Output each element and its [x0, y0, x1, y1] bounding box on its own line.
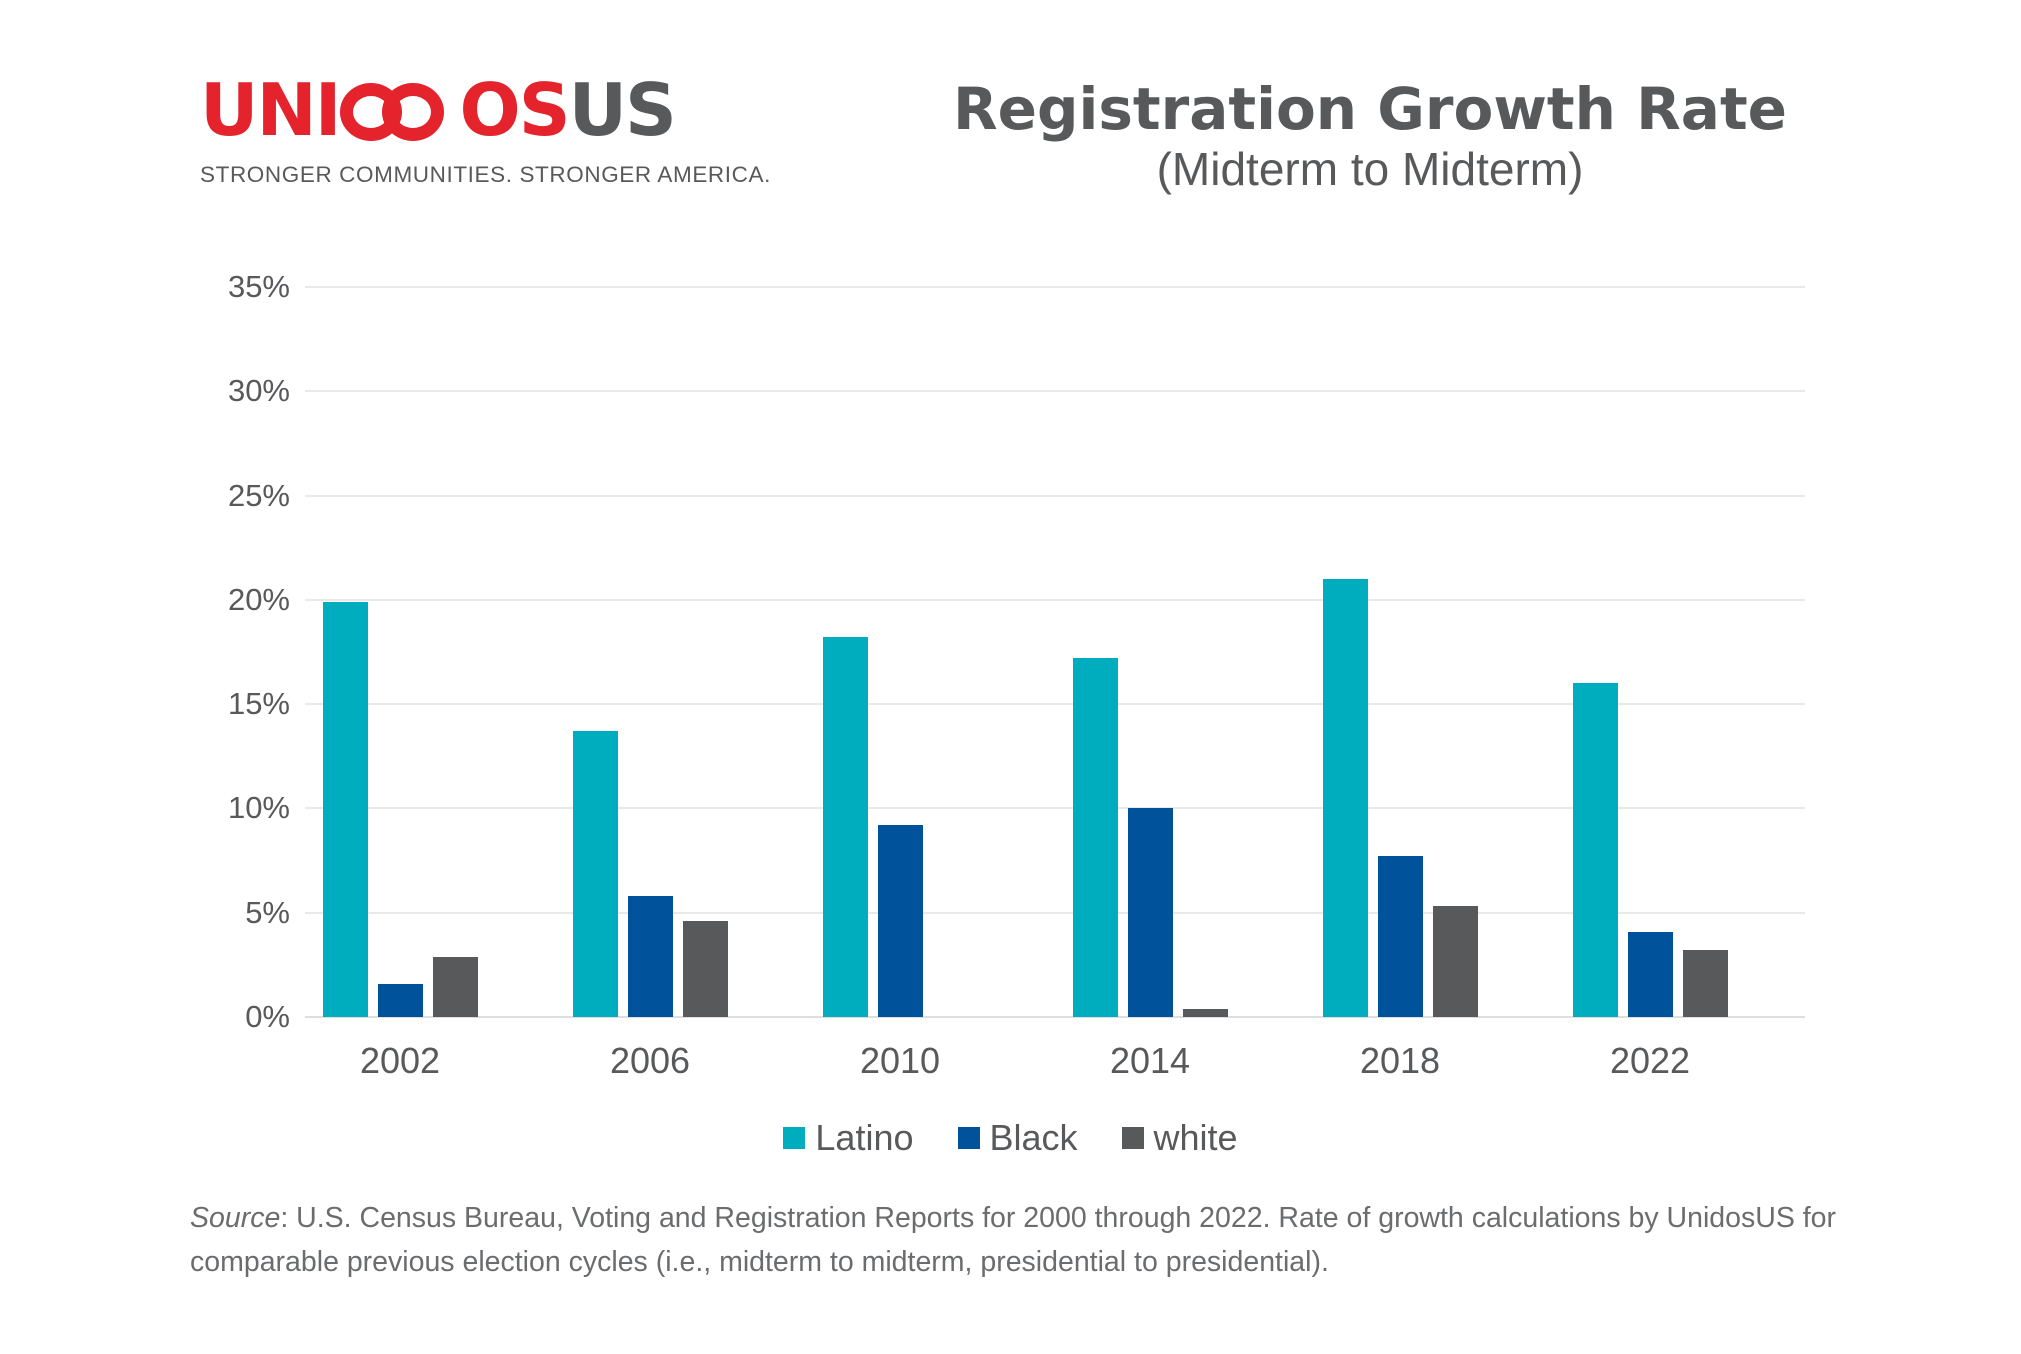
x-axis-tick-2002: 2002: [360, 1040, 440, 1082]
legend-swatch-icon: [783, 1127, 805, 1149]
bar-group-2006: [555, 287, 805, 1017]
bar-group-2022: [1555, 287, 1805, 1017]
logo-tagline: STRONGER COMMUNITIES. STRONGER AMERICA.: [200, 162, 700, 188]
bar-black-2006: [628, 896, 673, 1017]
bar-group-2002: [305, 287, 555, 1017]
bar-plot: [305, 287, 1805, 1017]
bar-latino-2010: [823, 637, 868, 1017]
x-axis-tick-2010: 2010: [860, 1040, 940, 1082]
legend-item-black[interactable]: Black: [958, 1120, 1078, 1156]
bar-white-2002: [433, 957, 478, 1017]
x-axis-tick-2014: 2014: [1110, 1040, 1190, 1082]
legend-item-latino[interactable]: Latino: [783, 1120, 913, 1156]
bar-black-2002: [378, 984, 423, 1017]
source-label: Source: [190, 1202, 280, 1234]
logo-wordmark: UNIOSUS: [200, 70, 700, 150]
bar-latino-2006: [573, 731, 618, 1017]
y-axis-tick: 15%: [160, 686, 290, 722]
source-note: Source: U.S. Census Bureau, Voting and R…: [190, 1196, 1840, 1284]
unidosus-logo: UNIOSUS STRONGER COMMUNITIES. STRONGER A…: [200, 70, 700, 188]
x-axis-tick-2018: 2018: [1360, 1040, 1440, 1082]
chart-legend: LatinoBlackwhite: [0, 1120, 2021, 1156]
bar-latino-2002: [323, 602, 368, 1017]
y-axis-tick: 25%: [160, 478, 290, 514]
legend-label: Latino: [815, 1120, 913, 1156]
bar-black-2022: [1628, 932, 1673, 1018]
legend-label: white: [1154, 1120, 1238, 1156]
y-axis-tick: 35%: [160, 269, 290, 305]
bar-group-2018: [1305, 287, 1555, 1017]
bar-white-2022: [1683, 950, 1728, 1017]
logo-text-us: US: [569, 70, 675, 150]
y-axis-tick: 0%: [160, 999, 290, 1035]
bar-group-2010: [805, 287, 1055, 1017]
legend-label: Black: [990, 1120, 1078, 1156]
y-axis-tick: 30%: [160, 373, 290, 409]
chart-title: Registration Growth Rate: [880, 78, 1860, 140]
title-block: Registration Growth Rate (Midterm to Mid…: [880, 78, 1860, 198]
bar-black-2014: [1128, 808, 1173, 1017]
bar-latino-2018: [1323, 579, 1368, 1017]
y-axis-tick: 10%: [160, 790, 290, 826]
chart-subtitle: (Midterm to Midterm): [880, 140, 1860, 198]
legend-item-white[interactable]: white: [1122, 1120, 1238, 1156]
legend-swatch-icon: [1122, 1127, 1144, 1149]
bar-white-2006: [683, 921, 728, 1017]
y-axis-labels: 0%5%10%15%20%25%30%35%: [160, 287, 290, 1017]
legend-swatch-icon: [958, 1127, 980, 1149]
x-axis-tick-2006: 2006: [610, 1040, 690, 1082]
bar-latino-2022: [1573, 683, 1618, 1017]
bar-latino-2014: [1073, 658, 1118, 1017]
x-axis-tick-2022: 2022: [1610, 1040, 1690, 1082]
logo-text-os: OS: [460, 70, 569, 150]
y-axis-tick: 5%: [160, 895, 290, 931]
logo-text-uni: UNI: [200, 70, 340, 150]
bar-group-2014: [1055, 287, 1305, 1017]
x-axis-labels: 200220062010201420182022: [305, 1040, 1805, 1090]
bar-white-2018: [1433, 906, 1478, 1017]
bar-black-2018: [1378, 856, 1423, 1017]
bar-black-2010: [878, 825, 923, 1017]
logo-rings-icon: [340, 74, 458, 146]
y-axis-tick: 20%: [160, 582, 290, 618]
chart-header: UNIOSUS STRONGER COMMUNITIES. STRONGER A…: [0, 0, 2021, 250]
bar-white-2014: [1183, 1009, 1228, 1017]
source-text: : U.S. Census Bureau, Voting and Registr…: [190, 1202, 1836, 1278]
